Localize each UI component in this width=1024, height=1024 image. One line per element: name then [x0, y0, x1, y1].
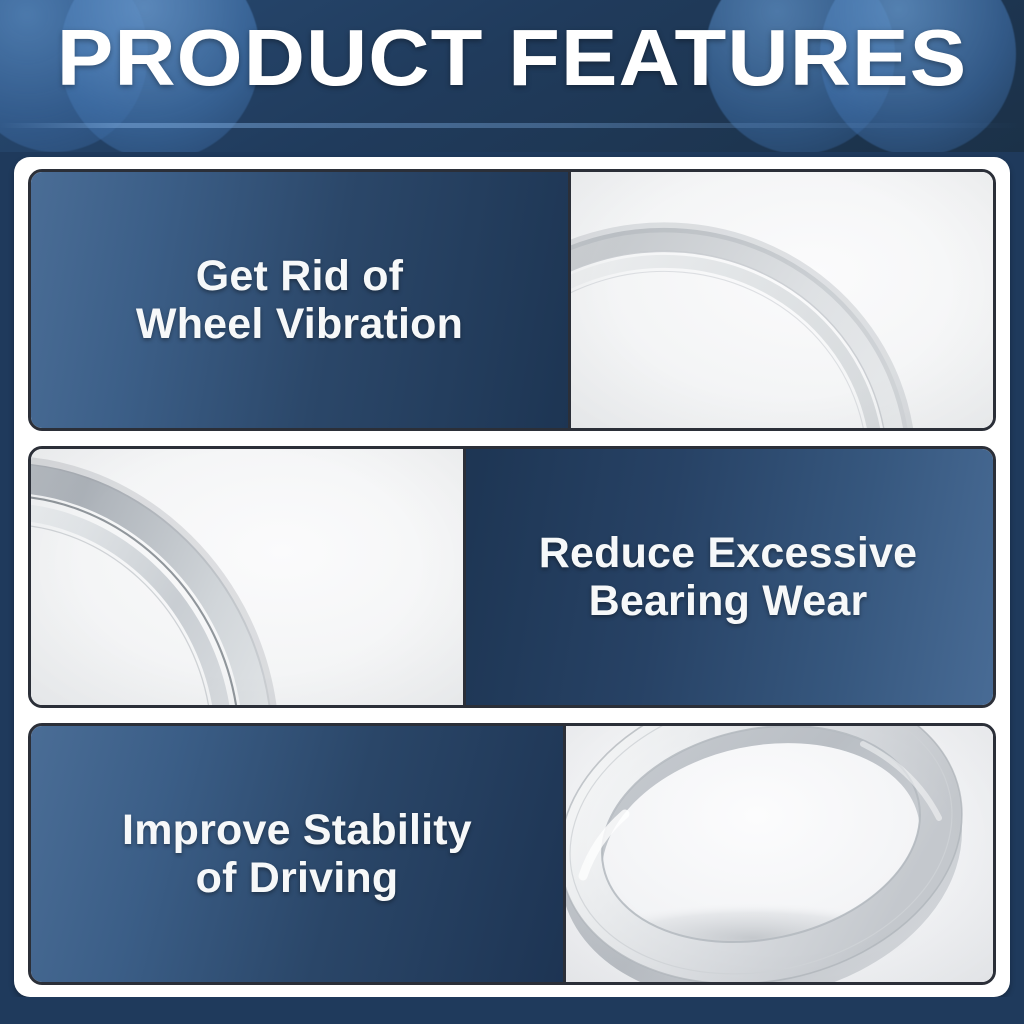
feature-2-image-panel [31, 449, 463, 705]
feature-1-divider [568, 172, 571, 428]
features-frame: Get Rid of Wheel Vibration [14, 157, 1010, 997]
feature-3-line1: Improve Stability [122, 806, 472, 854]
feature-3-label: Improve Stability of Driving [122, 806, 472, 902]
feature-3-line2: of Driving [122, 854, 472, 902]
page-title: PRODUCT FEATURES [0, 18, 1024, 98]
feature-1-line1: Get Rid of [196, 252, 403, 300]
feature-3-text-panel: Improve Stability of Driving [31, 726, 563, 982]
feature-2-line1: Reduce Excessive [539, 529, 918, 577]
feature-2-text-panel: Reduce Excessive Bearing Wear [463, 449, 993, 705]
hub-ring-photo-3 [563, 726, 993, 982]
hub-ring-photo-1 [568, 172, 993, 428]
feature-card-1[interactable]: Get Rid of Wheel Vibration [28, 169, 996, 431]
feature-2-divider [463, 449, 466, 705]
feature-1-text-panel: Get Rid of Wheel Vibration [31, 172, 568, 428]
hub-ring-photo-2 [31, 449, 463, 705]
feature-3-divider [563, 726, 566, 982]
feature-2-line2: Bearing Wear [539, 577, 918, 625]
product-features-infographic: PRODUCT FEATURES Get Rid of Wheel Vibrat… [0, 0, 1024, 1024]
feature-1-line2: Wheel Vibration [136, 300, 463, 348]
feature-card-2[interactable]: Reduce Excessive Bearing Wear [28, 446, 996, 708]
feature-1-label: Get Rid of Wheel Vibration [136, 252, 463, 348]
feature-1-image-panel [568, 172, 993, 428]
feature-2-label: Reduce Excessive Bearing Wear [539, 529, 918, 625]
header-banner: PRODUCT FEATURES [0, 0, 1024, 152]
feature-card-3[interactable]: Improve Stability of Driving [28, 723, 996, 985]
feature-3-image-panel [563, 726, 993, 982]
bottom-background-band [0, 997, 1024, 1024]
header-underline [0, 123, 1024, 128]
